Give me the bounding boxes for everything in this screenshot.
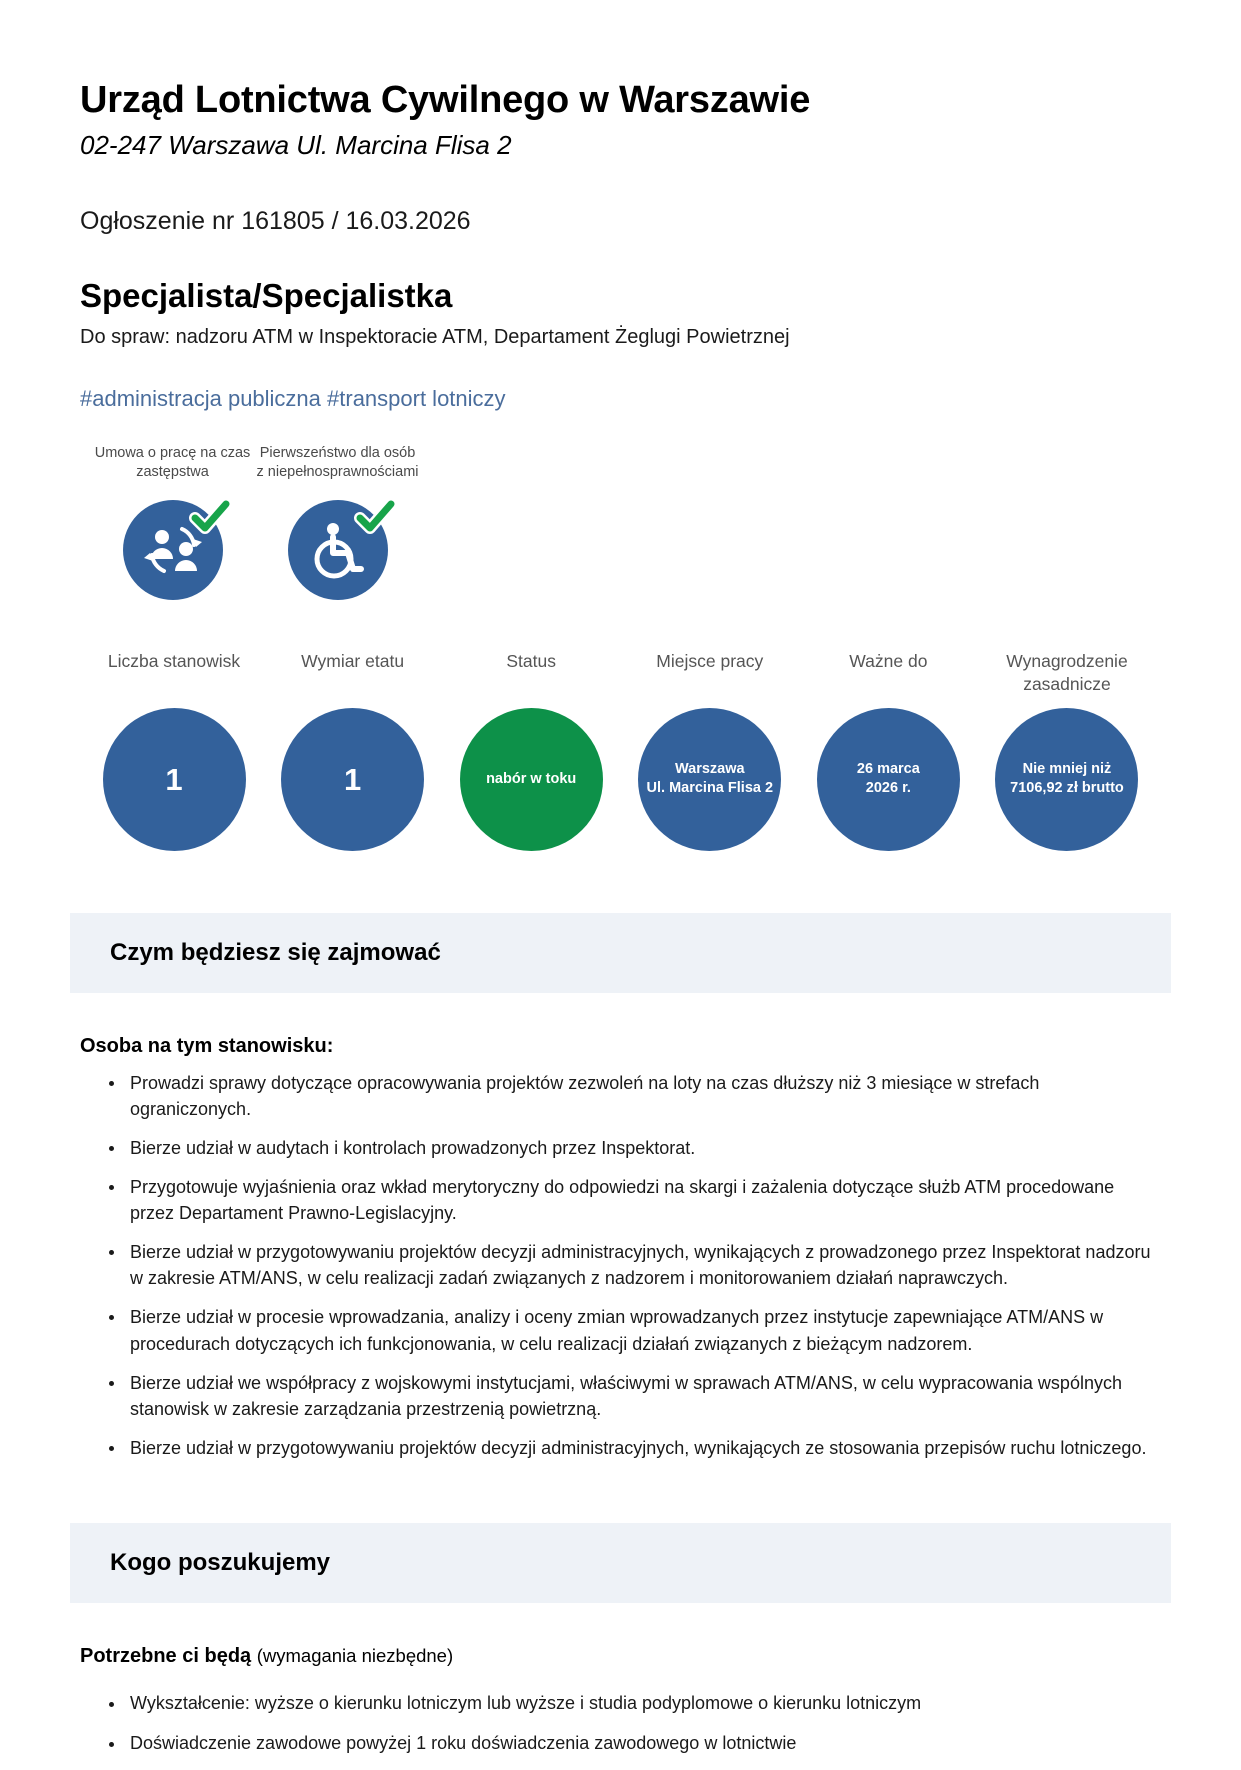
stat-label: Ważne do (802, 650, 974, 696)
badge-label: Umowa o pracę na czas zastępstwa (90, 444, 255, 484)
feature-badges: Umowa o pracę na czas zastępstwa (80, 444, 1161, 600)
duties-list: Prowadzi sprawy dotyczące opracowywania … (80, 1070, 1161, 1461)
badge-contract-replacement: Umowa o pracę na czas zastępstwa (90, 444, 255, 600)
list-item: Bierze udział w przygotowywaniu projektó… (126, 1239, 1161, 1291)
stat-label: Status (445, 650, 617, 696)
announcement-number: Ogłoszenie nr 161805 / 16.03.2026 (80, 207, 1161, 236)
badge-label: Pierwszeństwo dla osób z niepełnosprawno… (255, 444, 420, 484)
hashtag-list[interactable]: #administracja publiczna #transport lotn… (80, 385, 1161, 414)
stat-wymiar-etatu: Wymiar etatu 1 (267, 650, 439, 851)
stat-value: 26 marca2026 r. (857, 760, 920, 799)
duties-subhead: Osoba na tym stanowisku: (80, 1035, 1161, 1058)
stat-wazne-do: Ważne do 26 marca2026 r. (802, 650, 974, 851)
list-item: Bierze udział w procesie wprowadzania, a… (126, 1304, 1161, 1356)
list-item: Bierze udział w audytach i kontrolach pr… (126, 1135, 1161, 1161)
list-item: Wykształcenie: wyższe o kierunku lotnicz… (126, 1690, 1161, 1716)
section-header-duties: Czym będziesz się zajmować (70, 913, 1171, 993)
job-posting-page: Urząd Lotnictwa Cywilnego w Warszawie 02… (0, 0, 1241, 1756)
stat-circle: 1 (281, 708, 424, 851)
position-subtitle: Do spraw: nadzoru ATM w Inspektoracie AT… (80, 324, 1161, 351)
stat-circle: 1 (103, 708, 246, 851)
stat-miejsce-pracy: Miejsce pracy WarszawaUl. Marcina Flisa … (624, 650, 796, 851)
stat-value: 1 (344, 764, 361, 795)
requirements-subhead-bold: Potrzebne ci będą (80, 1645, 251, 1667)
requirements-subhead-normal: (wymagania niezbędne) (257, 1645, 453, 1666)
organization-address: 02-247 Warszawa Ul. Marcina Flisa 2 (80, 129, 1161, 163)
list-item: Bierze udział we współpracy z wojskowymi… (126, 1370, 1161, 1422)
stat-status: Status nabór w toku (445, 650, 617, 851)
stats-row: Liczba stanowisk 1 Wymiar etatu 1 Status… (80, 650, 1161, 851)
status-badge: nabór w toku (460, 708, 603, 851)
requirements-list: Wykształcenie: wyższe o kierunku lotnicz… (80, 1690, 1161, 1756)
badge-icon-wrap (123, 500, 223, 600)
check-mark-icon (187, 494, 233, 540)
stat-label: Wymiar etatu (267, 650, 439, 696)
stat-label: Liczba stanowisk (88, 650, 260, 696)
badge-disability-priority: Pierwszeństwo dla osób z niepełnosprawno… (255, 444, 420, 600)
stat-liczba-stanowisk: Liczba stanowisk 1 (88, 650, 260, 851)
position-title: Specjalista/Specjalistka (80, 276, 1161, 316)
badge-icon-wrap (288, 500, 388, 600)
stat-value: WarszawaUl. Marcina Flisa 2 (647, 760, 774, 799)
list-item: Przygotowuje wyjaśnienia oraz wkład mery… (126, 1174, 1161, 1226)
requirements-subhead: Potrzebne ci będą (wymagania niezbędne) (80, 1645, 1161, 1668)
stat-label: Miejsce pracy (624, 650, 796, 696)
stat-circle: WarszawaUl. Marcina Flisa 2 (638, 708, 781, 851)
organization-title: Urząd Lotnictwa Cywilnego w Warszawie (80, 0, 1161, 123)
stat-wynagrodzenie: Wynagrodzenie zasadnicze Nie mniej niż71… (981, 650, 1153, 851)
list-item: Doświadczenie zawodowe powyżej 1 roku do… (126, 1730, 1161, 1756)
check-mark-icon (352, 494, 398, 540)
list-item: Prowadzi sprawy dotyczące opracowywania … (126, 1070, 1161, 1122)
stat-circle: 26 marca2026 r. (817, 708, 960, 851)
stat-value: 1 (165, 764, 182, 795)
stat-label: Wynagrodzenie zasadnicze (981, 650, 1153, 696)
stat-value: nabór w toku (486, 770, 576, 790)
section-title: Czym będziesz się zajmować (110, 939, 1131, 967)
list-item: Bierze udział w przygotowywaniu projektó… (126, 1435, 1161, 1461)
stat-circle: Nie mniej niż7106,92 zł brutto (995, 708, 1138, 851)
section-header-requirements: Kogo poszukujemy (70, 1523, 1171, 1603)
section-title: Kogo poszukujemy (110, 1549, 1131, 1577)
stat-value: Nie mniej niż7106,92 zł brutto (1010, 760, 1124, 799)
